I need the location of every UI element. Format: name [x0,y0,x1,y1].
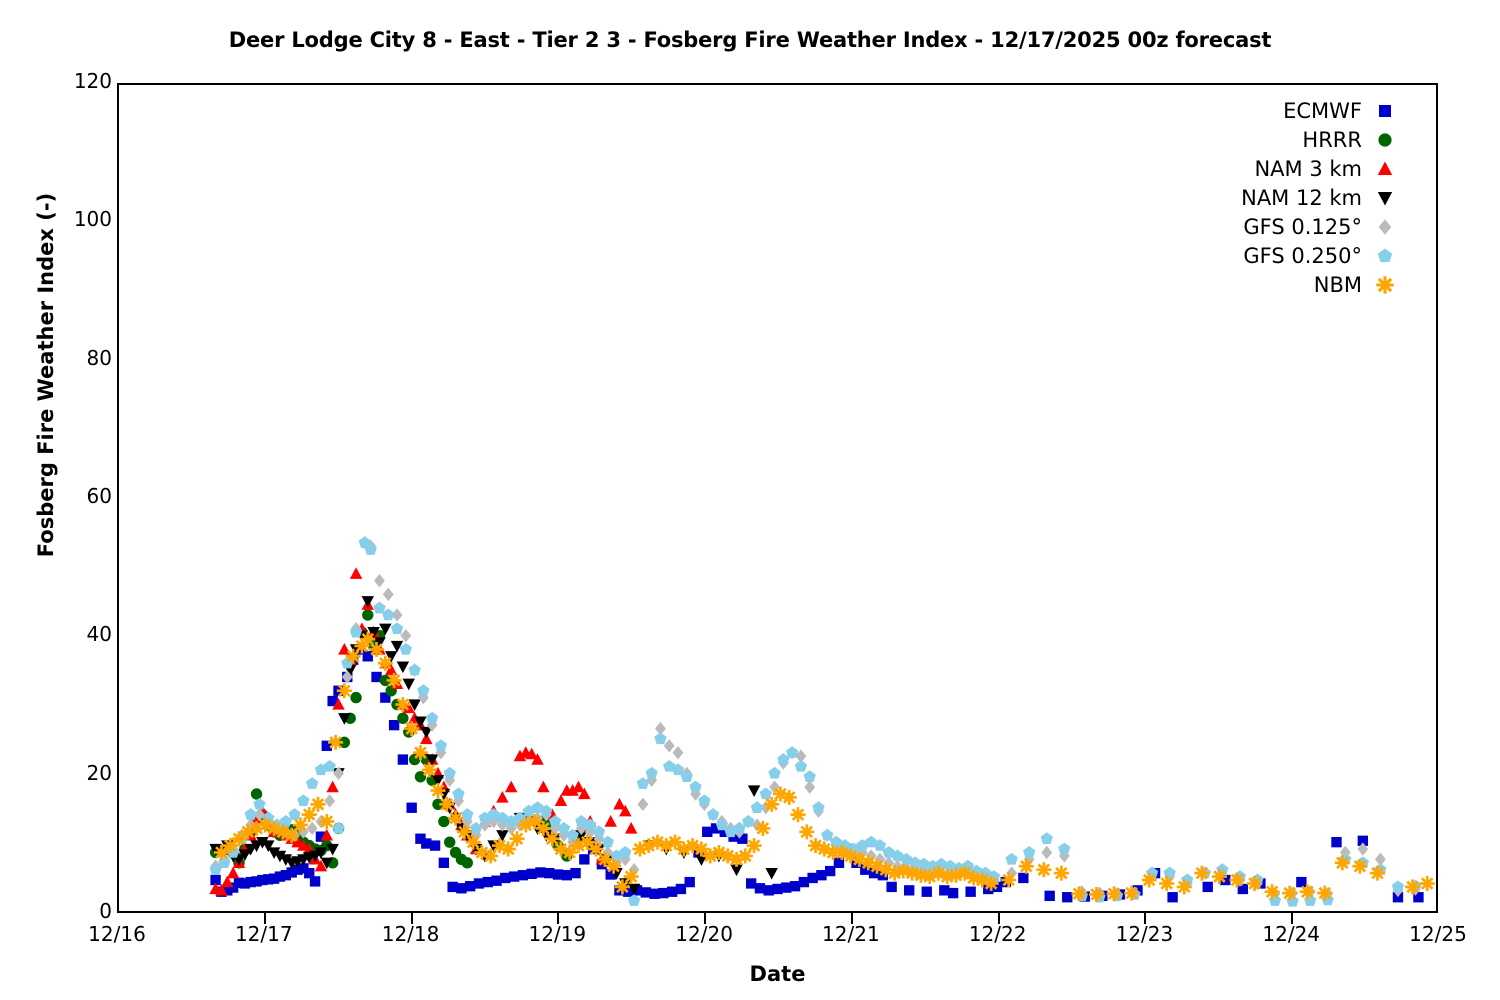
square-marker [1331,837,1341,847]
asterisk-marker [799,824,814,839]
pentagon-icon [1362,243,1408,269]
square-marker [1044,891,1054,901]
pentagon-marker [1058,843,1070,855]
asterisk-marker [1300,884,1315,899]
pentagon-marker [417,684,429,696]
legend-label: HRRR [1302,128,1362,152]
asterisk-marker [448,811,463,826]
triangle-up-marker [537,781,549,793]
diamond-marker [374,574,385,587]
x-tick-mark [851,913,853,924]
pentagon-marker [1005,853,1017,865]
page-title: Deer Lodge City 8 - East - Tier 2 3 - Fo… [0,28,1500,52]
triangle-down-marker [496,830,508,842]
y-tick-label: 80 [22,346,112,370]
square-marker [1062,892,1072,902]
asterisk-marker [430,783,445,798]
square-marker [430,840,440,850]
triangle-down-marker [397,661,409,673]
x-tick-mark [557,913,559,924]
pentagon-marker [1392,880,1404,892]
square-marker [1203,882,1213,892]
asterisk-marker [755,821,770,836]
pentagon-marker [435,739,447,751]
triangle-down-marker [1378,192,1392,206]
pentagon-marker [804,770,816,782]
square-marker [579,854,589,864]
circle-marker [1378,133,1391,146]
asterisk-marker [1019,859,1034,874]
asterisk-marker [1282,886,1297,901]
pentagon-marker [645,767,657,779]
square-icon [1362,98,1408,124]
pentagon-marker [742,815,754,827]
triangle-down-marker [403,679,415,691]
pentagon-marker [1164,867,1176,879]
asterisk-marker [1089,887,1104,902]
asterisk-marker [1194,866,1209,881]
diamond-marker [400,629,411,642]
pentagon-marker [812,801,824,813]
asterisk-marker [319,814,334,829]
pentagon-marker [689,781,701,793]
circle-icon [1362,127,1408,153]
triangle-down-marker [765,868,777,880]
asterisk-marker [413,745,428,760]
pentagon-marker [253,798,265,810]
diamond-marker [383,588,394,601]
legend-item-nbm[interactable]: NBM [1150,270,1408,299]
legend-item-nam-3-km[interactable]: NAM 3 km [1150,154,1408,183]
asterisk-marker [1405,879,1420,894]
series-nbm [214,632,1435,902]
y-axis-label: Fosberg Fire Weather Index (-) [34,0,58,790]
x-tick-mark [1291,913,1293,924]
asterisk-marker [439,797,454,812]
triangle-up-marker [505,781,517,793]
x-tick-label: 12/21 [791,922,911,946]
pentagon-marker [821,829,833,841]
square-marker [904,885,914,895]
x-tick-mark [704,913,706,924]
y-tick-label: 40 [22,622,112,646]
asterisk-marker [422,762,437,777]
y-tick-label: 0 [22,899,112,923]
chart-legend: ECMWFHRRRNAM 3 kmNAM 12 kmGFS 0.125°GFS … [1150,96,1408,299]
chart-figure: Deer Lodge City 8 - East - Tier 2 3 - Fo… [0,0,1500,1000]
triangle-down-marker [748,785,760,797]
circle-marker [444,836,455,847]
x-tick-label: 12/24 [1231,922,1351,946]
square-marker [1167,892,1177,902]
diamond-marker [324,794,335,807]
pentagon-marker [760,788,772,800]
pentagon-marker [400,643,412,655]
legend-label: NAM 12 km [1241,186,1362,210]
pentagon-marker [324,760,336,772]
pentagon-marker [408,664,420,676]
pentagon-marker [795,760,807,772]
asterisk-marker [1107,886,1122,901]
asterisk-marker [1159,876,1174,891]
square-marker [948,888,958,898]
x-tick-label: 12/18 [351,922,471,946]
diamond-marker [673,746,684,759]
triangle-down-icon [1362,185,1408,211]
x-tick-label: 12/22 [938,922,1058,946]
legend-label: GFS 0.125° [1243,215,1362,239]
asterisk-marker [337,683,352,698]
triangle-up-marker [350,567,362,579]
pentagon-marker [1378,248,1392,262]
x-tick-label: 12/20 [644,922,764,946]
asterisk-marker [606,859,621,874]
asterisk-marker [1317,886,1332,901]
square-marker [406,803,416,813]
asterisk-marker [1247,876,1262,891]
triangle-up-marker [326,781,338,793]
circle-marker [350,692,361,703]
asterisk-marker [790,807,805,822]
y-tick-label: 100 [22,207,112,231]
asterisk-marker [1124,886,1139,901]
legend-item-gfs-0-125[interactable]: GFS 0.125° [1150,212,1408,241]
asterisk-marker [1142,873,1157,888]
asterisk-marker [1177,879,1192,894]
x-tick-mark [1144,913,1146,924]
pentagon-marker [452,788,464,800]
x-tick-mark [998,913,1000,924]
asterisk-marker [1370,866,1385,881]
square-marker [310,876,320,886]
pentagon-marker [444,767,456,779]
asterisk-marker [1229,873,1244,888]
asterisk-marker [378,656,393,671]
y-tick-label: 20 [22,761,112,785]
square-marker [965,887,975,897]
pentagon-marker [306,777,318,789]
pentagon-marker [391,622,403,634]
asterisk-marker [1376,276,1393,293]
x-tick-label: 12/17 [204,922,324,946]
circle-marker [462,857,473,868]
square-marker [1018,873,1028,883]
pentagon-marker [619,846,631,858]
asterisk-marker [1335,855,1350,870]
asterisk-marker [1352,859,1367,874]
asterisk-marker [782,790,797,805]
asterisk-marker [310,797,325,812]
square-marker [570,868,580,878]
pentagon-marker [426,712,438,724]
square-marker [685,877,695,887]
x-tick-label: 12/19 [497,922,617,946]
asterisk-marker [510,831,525,846]
diamond-marker [1379,219,1392,235]
pentagon-marker [768,767,780,779]
triangle-up-icon [1362,156,1408,182]
asterisk-marker [1071,886,1086,901]
asterisk-marker [1420,876,1435,891]
circle-marker [397,713,408,724]
legend-item-nam-12-km[interactable]: NAM 12 km [1150,183,1408,212]
triangle-down-marker [362,596,374,608]
asterisk-icon [1362,272,1408,298]
triangle-up-marker [227,867,239,879]
square-marker [389,720,399,730]
x-axis-label: Date [117,962,1438,986]
square-marker [398,754,408,764]
asterisk-marker [387,673,402,688]
asterisk-marker [984,876,999,891]
asterisk-marker [369,642,384,657]
pentagon-marker [332,822,344,834]
pentagon-marker [288,808,300,820]
legend-label: NBM [1314,273,1362,297]
x-tick-label: 12/16 [57,922,177,946]
square-marker [922,887,932,897]
y-tick-label: 120 [22,69,112,93]
asterisk-marker [1036,862,1051,877]
pentagon-marker [373,602,385,614]
asterisk-marker [1212,869,1227,884]
x-tick-label: 12/23 [1084,922,1204,946]
pentagon-marker [637,777,649,789]
x-tick-mark [411,913,413,924]
asterisk-marker [1001,873,1016,888]
pentagon-marker [245,808,257,820]
legend-label: ECMWF [1283,99,1362,123]
asterisk-marker [624,869,639,884]
square-marker [1296,877,1306,887]
legend-item-hrrr[interactable]: HRRR [1150,125,1408,154]
pentagon-marker [751,801,763,813]
square-marker [1379,105,1391,117]
square-marker [439,858,449,868]
circle-marker [362,609,373,620]
triangle-up-marker [496,791,508,803]
pentagon-marker [602,836,614,848]
pentagon-marker [297,794,309,806]
pentagon-marker [1041,832,1053,844]
pentagon-marker [786,746,798,758]
square-marker [886,882,896,892]
pentagon-marker [1023,846,1035,858]
legend-label: GFS 0.250° [1243,244,1362,268]
diamond-marker [804,780,815,793]
x-tick-mark [264,913,266,924]
y-tick-label: 60 [22,484,112,508]
asterisk-marker [747,838,762,853]
asterisk-marker [1265,884,1280,899]
triangle-up-marker [1378,161,1392,175]
legend-label: NAM 3 km [1254,157,1362,181]
x-tick-label: 12/25 [1378,922,1498,946]
triangle-up-marker [555,794,567,806]
pentagon-marker [707,808,719,820]
pentagon-marker [698,794,710,806]
diamond-marker [1041,846,1052,859]
diamond-marker [637,798,648,811]
asterisk-marker [328,735,343,750]
legend-item-gfs-0-250[interactable]: GFS 0.250° [1150,241,1408,270]
asterisk-marker [1054,866,1069,881]
pentagon-marker [654,732,666,744]
diamond-icon [1362,214,1408,240]
triangle-up-marker [604,815,616,827]
asterisk-marker [404,721,419,736]
circle-marker [251,788,262,799]
legend-item-ecmwf[interactable]: ECMWF [1150,96,1408,125]
triangle-up-marker [625,822,637,834]
circle-marker [438,816,449,827]
asterisk-marker [395,697,410,712]
diamond-marker [664,739,675,752]
